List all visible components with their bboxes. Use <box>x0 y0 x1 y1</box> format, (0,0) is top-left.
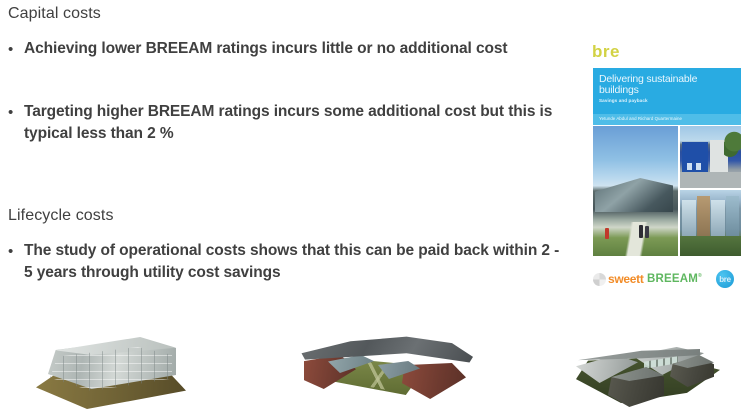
angular-glass-building-photo <box>593 126 678 256</box>
photo-tree <box>724 128 741 162</box>
glass-timber-facade-photo <box>680 190 741 256</box>
photo-person-dark-b <box>645 226 649 238</box>
report-cover-block: bre Delivering sustainable buildings Sav… <box>588 40 753 300</box>
photo-bay-1 <box>682 200 696 236</box>
cover-authors: Yetunde Abdul and Richard Quartermaine <box>599 116 739 121</box>
bullet-point-icon: • <box>8 240 24 283</box>
blue-school-building-photo <box>680 126 741 188</box>
photo-glass-roof-shape <box>595 178 673 212</box>
photo-planting <box>680 236 741 256</box>
photo-person-dark-a <box>639 225 643 238</box>
registered-mark-icon: ® <box>698 273 702 279</box>
photo-plaza <box>680 172 741 188</box>
bullet-point-icon: • <box>8 38 24 60</box>
breeam-logo: BREEAM® <box>647 273 702 285</box>
breeam-logo-label: BREEAM <box>647 273 698 285</box>
glass-office-block-render <box>28 331 193 413</box>
bre-badge-label: bre <box>719 275 731 284</box>
bullet-item: • The study of operational costs shows t… <box>8 240 568 283</box>
bre-wordmark-logo: bre <box>592 43 620 60</box>
bullet-text: The study of operational costs shows tha… <box>24 240 562 283</box>
slide-canvas: Capital costs • Achieving lower BREEAM r… <box>0 0 753 419</box>
photo-bay-4 <box>726 196 739 236</box>
report-cover-thumbnail: Delivering sustainable buildings Savings… <box>593 68 747 258</box>
section-heading-lifecycle-costs: Lifecycle costs <box>8 207 114 225</box>
sweett-logo-label: sweett <box>608 272 644 286</box>
grey-low-rise-complex-render <box>570 333 735 411</box>
bre-circular-badge: bre <box>716 270 734 288</box>
section-heading-capital-costs: Capital costs <box>8 5 101 23</box>
photo-windows <box>687 163 692 170</box>
cover-photo-collage <box>593 126 741 256</box>
sweett-swirl-icon <box>593 273 606 286</box>
bullet-text: Achieving lower BREEAM ratings incurs li… <box>24 38 576 60</box>
photo-person-red <box>605 228 609 239</box>
cover-subtitle: Savings and payback <box>599 98 729 103</box>
photo-bay-2 <box>697 196 710 236</box>
curved-roof-brick-building-render <box>298 333 473 411</box>
building-render-row <box>0 325 753 419</box>
sweett-logo: sweett <box>593 272 644 286</box>
photo-bay-3 <box>711 200 725 236</box>
photo-blue-facade <box>682 142 708 172</box>
bullet-point-icon: • <box>8 101 24 144</box>
bullet-text: Targeting higher BREEAM ratings incurs s… <box>24 101 580 144</box>
bullet-item: • Targeting higher BREEAM ratings incurs… <box>8 101 586 144</box>
cover-title: Delivering sustainable buildings <box>599 74 739 96</box>
bullet-item: • Achieving lower BREEAM ratings incurs … <box>8 38 583 60</box>
partner-logo-row: sweett BREEAM® bre <box>588 268 753 296</box>
slide-text-column: Capital costs • Achieving lower BREEAM r… <box>0 0 592 320</box>
